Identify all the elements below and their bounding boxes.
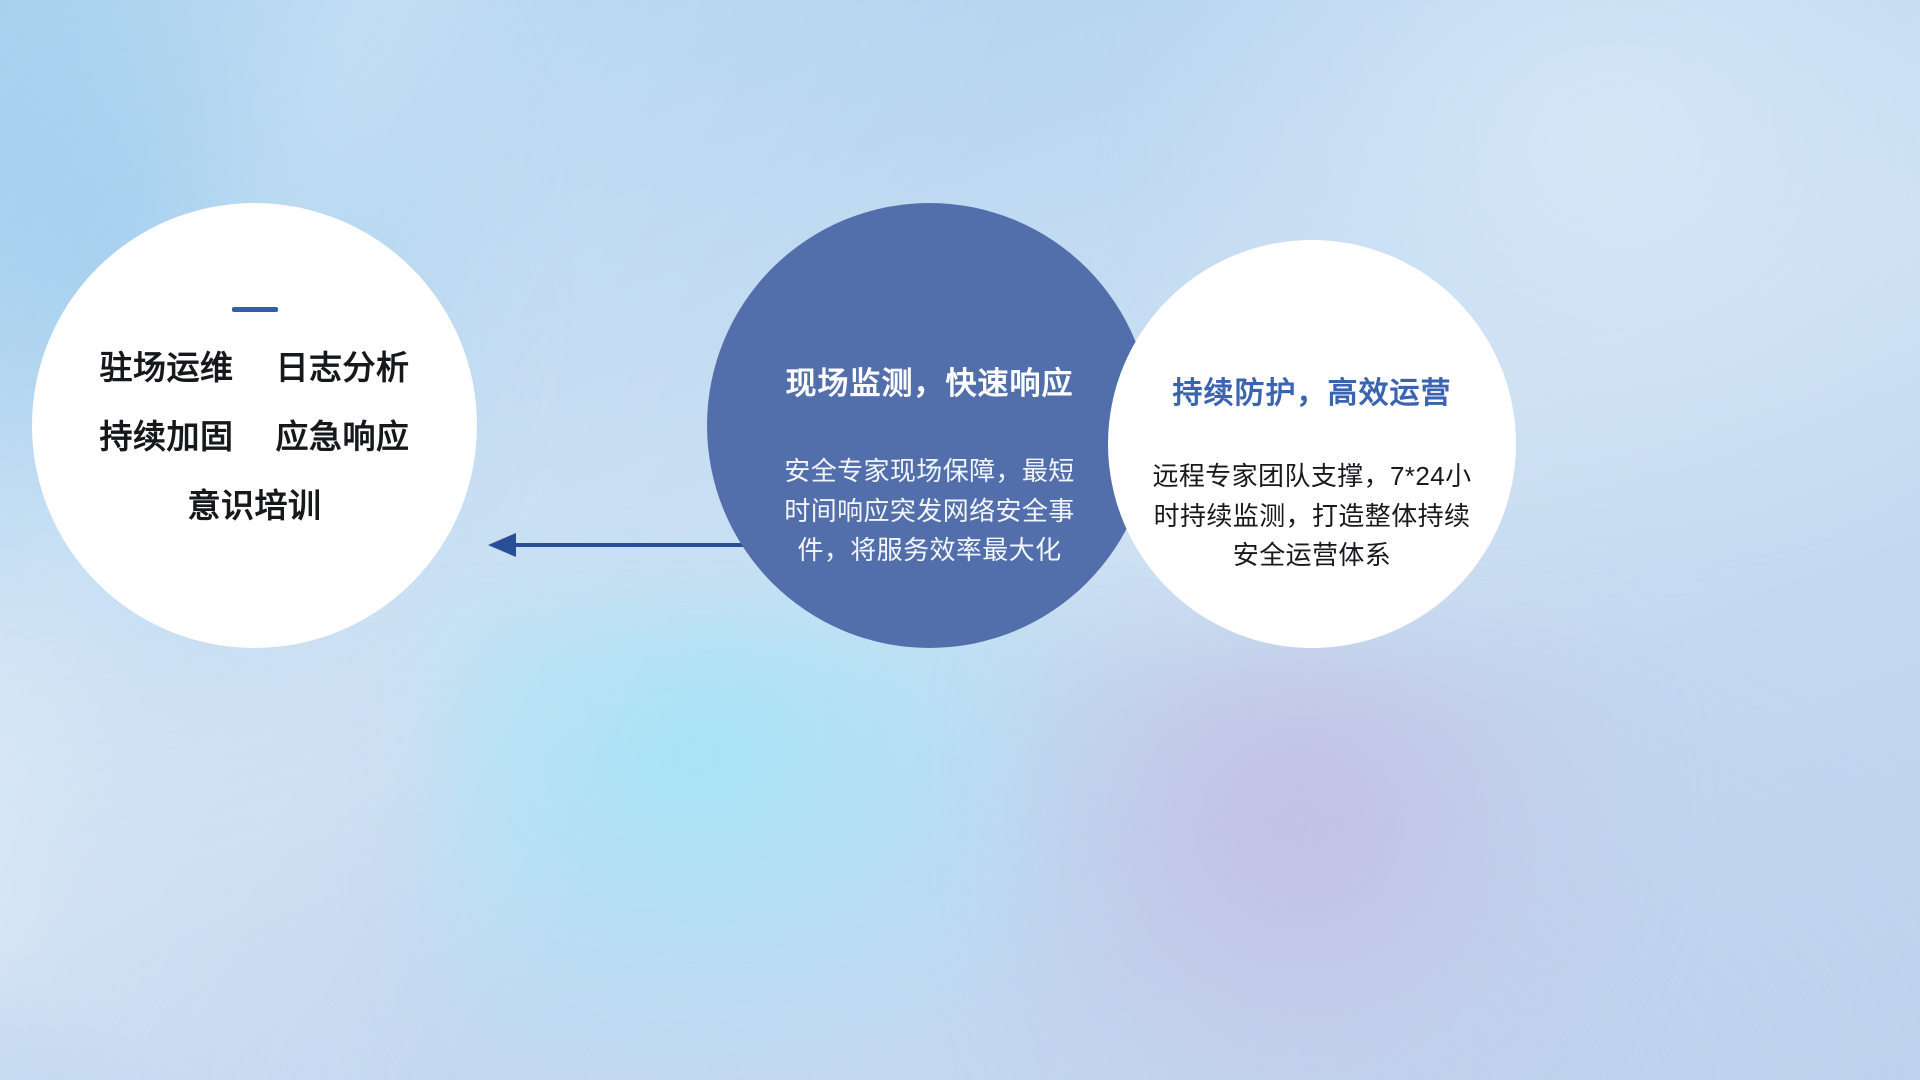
keyword-row-3: 意识培训 [188,489,322,522]
onsite-monitoring-circle: 现场监测，快速响应 安全专家现场保障，最短时间响应突发网络安全事件，将服务效率最… [707,203,1152,648]
keyword-row-2: 持续加固 应急响应 [100,420,410,453]
keyword-item: 日志分析 [276,351,410,384]
keyword-item: 驻场运维 [100,351,234,384]
keyword-row-1: 驻场运维 日志分析 [100,351,410,384]
continuous-protection-circle: 持续防护，高效运营 远程专家团队支撑，7*24小时持续监测，打造整体持续安全运营… [1108,240,1516,648]
keyword-item: 持续加固 [100,420,234,453]
onsite-monitoring-body: 安全专家现场保障，最短时间响应突发网络安全事件，将服务效率最大化 [772,452,1088,571]
continuous-protection-title: 持续防护，高效运营 [1173,368,1452,412]
divider-dash [232,307,278,312]
background-glow-lavender [1020,640,1640,1080]
onsite-monitoring-title: 现场监测，快速响应 [786,358,1074,403]
capabilities-circle: 驻场运维 日志分析 持续加固 应急响应 意识培训 [32,203,477,648]
keyword-item: 应急响应 [276,420,410,453]
continuous-protection-body: 远程专家团队支撑，7*24小时持续监测，打造整体持续安全运营体系 [1141,457,1483,576]
